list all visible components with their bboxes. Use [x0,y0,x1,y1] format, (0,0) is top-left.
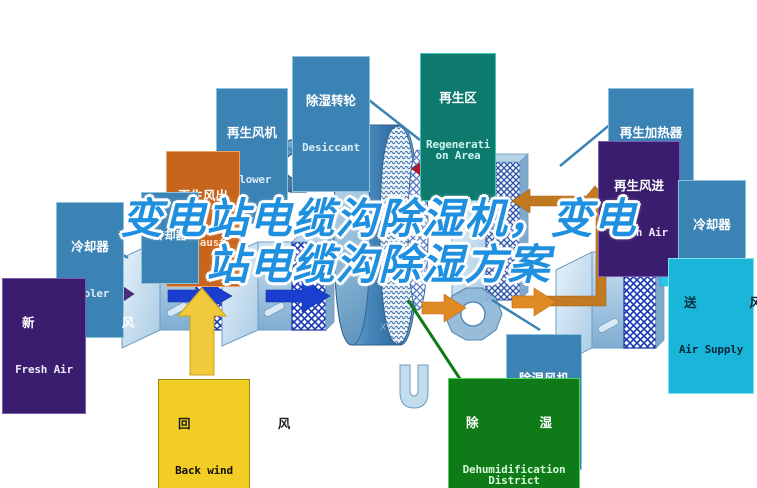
label-regen-fresh-air[interactable]: 再生风进 Fresh Air [598,141,680,277]
label-dehumid-district-en: Dehumidification District [454,464,574,488]
label-regen-fresh-air-cn: 再生风进 [604,179,674,193]
label-air-supply-en: Air Supply [674,344,748,356]
svg-text:XT: XT [380,323,392,333]
label-regeneration-area[interactable]: 再生区 Regenerati on Area [420,53,496,201]
label-cooler-right-cn: 冷却器 [684,218,740,232]
label-cooler-mid[interactable]: 冷却器 [141,192,199,284]
label-back-wind-en: Back wind [164,465,244,477]
label-fresh-air-cn: 新 风 [8,316,80,330]
label-fresh-air-en: Fresh Air [8,364,80,376]
label-air-supply-cn: 送 风 [674,296,748,310]
label-regen-blower-cn: 再生风机 [222,126,282,140]
label-cooler-mid-cn: 冷却器 [147,230,193,242]
drain-pan [400,365,428,408]
label-cooler-left-cn: 冷却器 [62,240,118,254]
label-fresh-air[interactable]: 新 风 Fresh Air [2,278,86,414]
label-air-supply[interactable]: 送 风 Air Supply [668,258,754,394]
label-dehumid-district-cn: 除 湿 区 [454,416,574,430]
label-regen-fresh-air-en: Fresh Air [604,227,674,239]
label-desiccant-en: Desiccant [298,142,364,154]
label-back-wind-cn: 回 风 [164,417,244,431]
label-desiccant-cn: 除湿转轮 [298,94,364,108]
label-back-wind[interactable]: 回 风 Back wind [158,379,250,488]
diagram-canvas: XT [0,0,757,488]
label-regeneration-area-en: Regenerati on Area [426,139,490,163]
label-desiccant[interactable]: 除湿转轮 Desiccant [292,56,370,192]
label-regen-heater-cn: 再生加热器 [614,126,688,140]
label-dehumid-district[interactable]: 除 湿 区 Dehumidification District [448,378,580,488]
label-regeneration-area-cn: 再生区 [426,91,490,105]
